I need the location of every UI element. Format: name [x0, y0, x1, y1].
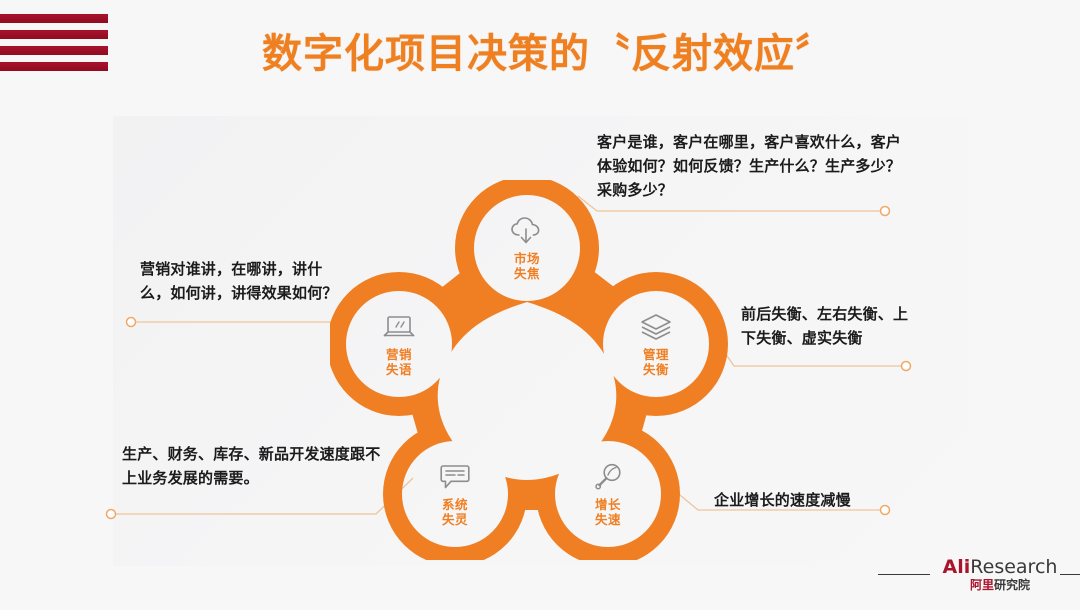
- header-bar-1: [0, 14, 108, 23]
- header-bar-2: [0, 30, 108, 39]
- callout-growth: 企业增长的速度减慢: [714, 489, 934, 513]
- logo-text-en: AliResearch: [943, 557, 1058, 577]
- header-bar-3: [0, 46, 108, 55]
- callout-system: 生产、财务、库存、新品开发速度跟不上业务发展的需要。: [122, 443, 387, 491]
- node-label-market: 市场 失焦: [514, 251, 540, 281]
- laptop-icon: [382, 312, 416, 342]
- header-decoration-bars: [0, 14, 108, 70]
- logo-rule-left: [878, 574, 930, 575]
- node-label-growth: 增长 失速: [595, 497, 621, 527]
- magnifier-icon: [591, 462, 625, 492]
- node-growth[interactable]: 增长 失速: [556, 442, 660, 546]
- node-label-system: 系统 失灵: [442, 497, 468, 527]
- node-system[interactable]: 系统 失灵: [403, 442, 507, 546]
- cloud-download-icon: [510, 216, 544, 246]
- callout-marketing: 营销对谁讲，在哪讲，讲什么，如何讲，讲得效果如何？: [140, 258, 340, 306]
- ali-research-logo: AliResearch 阿里研究院: [930, 552, 1070, 598]
- callout-market: 客户是谁，客户在哪里，客户喜欢什么，客户体验如何？如何反馈？生产什么？生产多少？…: [597, 131, 907, 203]
- node-label-manage: 管理 失衡: [643, 347, 669, 377]
- node-market[interactable]: 市场 失焦: [475, 196, 579, 300]
- callout-manage: 前后失衡、左右失衡、上下失衡、虚实失衡: [741, 303, 916, 351]
- node-manage[interactable]: 管理 失衡: [604, 292, 708, 396]
- page-title: 数字化项目决策的〝反射效应〞: [262, 25, 882, 85]
- speech-bubble-icon: [438, 462, 472, 492]
- node-marketing[interactable]: 营销 失语: [347, 292, 451, 396]
- header-bar-4: [0, 62, 108, 71]
- logo-text-cn: 阿里研究院: [970, 578, 1030, 593]
- layers-icon: [639, 312, 673, 342]
- slide-canvas: 数字化项目决策的〝反射效应〞: [0, 0, 1080, 610]
- node-label-marketing: 营销 失语: [386, 347, 412, 377]
